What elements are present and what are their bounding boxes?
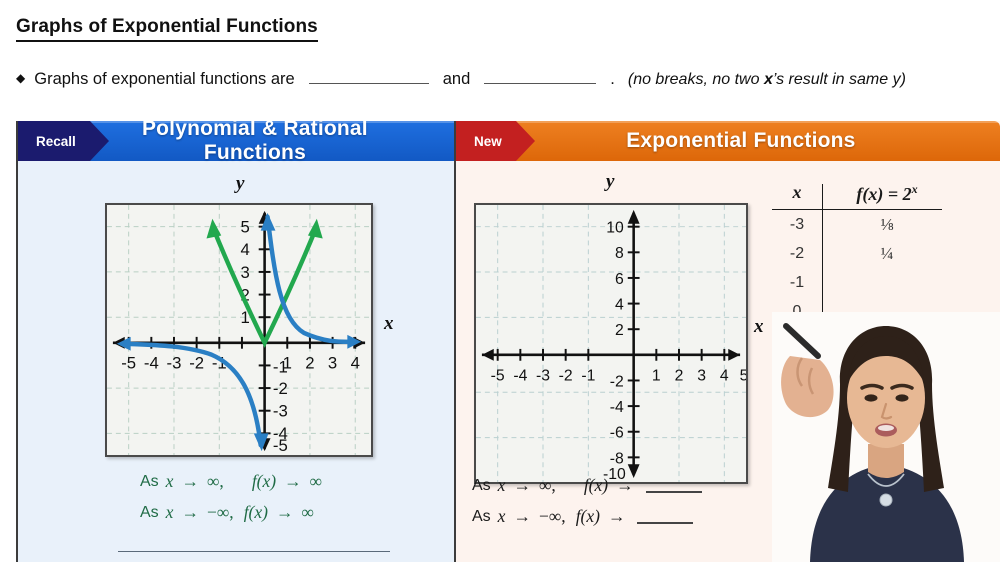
svg-text:3: 3 xyxy=(241,263,250,282)
limit-label: As xyxy=(140,473,159,491)
limit-arrow-icon: → xyxy=(181,502,199,523)
svg-text:-2: -2 xyxy=(610,373,624,390)
limit-arrow2-icon: → xyxy=(284,471,302,492)
svg-text:2: 2 xyxy=(615,322,624,339)
left-graph-svg: -5 -4 -3 -2 -1 1 2 3 4 5 4 3 2 xyxy=(107,205,371,455)
page-title: Graphs of Exponential Functions xyxy=(16,16,318,42)
table-cell-x: -3 xyxy=(772,216,822,234)
table-cell-x: -2 xyxy=(772,245,822,263)
limit-variable: x xyxy=(498,506,506,527)
right-graph-box: -5 -4 -3 -2 -1 1 2 3 4 5 10 8 6 4 2 -2 - xyxy=(474,203,748,484)
limit-function: f(x) xyxy=(576,506,600,527)
limit-arrow2-icon: → xyxy=(276,502,294,523)
svg-text:-6: -6 xyxy=(610,425,624,442)
limit-variable: x xyxy=(166,471,174,492)
limit-arrow-icon: → xyxy=(181,471,199,492)
svg-text:4: 4 xyxy=(720,367,729,384)
svg-text:1: 1 xyxy=(652,367,661,384)
svg-text:8: 8 xyxy=(615,245,624,262)
recall-divider xyxy=(118,551,390,552)
presenter-figure xyxy=(772,312,1000,562)
new-limit-row-1: As x → ∞, f(x) → xyxy=(472,475,702,496)
table-row: -1 xyxy=(772,268,942,297)
recall-panel: Recall Polynomial & Rational Functions y… xyxy=(16,121,456,562)
svg-text:4: 4 xyxy=(351,353,360,372)
left-grid xyxy=(107,205,371,455)
svg-text:10: 10 xyxy=(606,220,624,237)
svg-text:-1: -1 xyxy=(581,367,595,384)
limit-label: As xyxy=(472,477,491,495)
svg-text:6: 6 xyxy=(615,271,624,288)
blank-answer-1[interactable] xyxy=(309,71,429,84)
svg-text:-5: -5 xyxy=(273,436,288,455)
limit-label: As xyxy=(140,504,159,522)
limit-answer-blank-1[interactable] xyxy=(646,479,702,493)
svg-text:-3: -3 xyxy=(167,353,182,372)
limit-label: As xyxy=(472,508,491,526)
right-graph-svg: -5 -4 -3 -2 -1 1 2 3 4 5 10 8 6 4 2 -2 - xyxy=(476,205,746,482)
svg-text:-4: -4 xyxy=(610,399,624,416)
svg-text:-2: -2 xyxy=(273,379,288,398)
bullet-text-before: Graphs of exponential functions are xyxy=(34,70,295,89)
table-header-fx-exponent: x xyxy=(912,182,918,196)
presenter-neck xyxy=(868,444,904,478)
limit-variable: x xyxy=(498,475,506,496)
left-graph-box: -5 -4 -3 -2 -1 1 2 3 4 5 4 3 2 xyxy=(105,203,373,457)
svg-text:4: 4 xyxy=(241,240,250,259)
right-graph-x-label: x xyxy=(754,316,764,338)
limit-target: ∞, xyxy=(539,475,556,496)
right-graph-y-label: y xyxy=(606,171,614,193)
table-header-fx-text: f(x) = 2 xyxy=(856,184,911,204)
limit-result: ∞ xyxy=(301,502,313,523)
svg-text:4: 4 xyxy=(615,296,624,313)
blank-answer-2[interactable] xyxy=(484,71,596,84)
svg-text:3: 3 xyxy=(328,353,337,372)
polynomial-rational-graph: y x xyxy=(18,121,456,481)
svg-text:-2: -2 xyxy=(559,367,573,384)
svg-text:-8: -8 xyxy=(610,450,624,467)
table-row: -3⅛ xyxy=(772,210,942,239)
table-cell-x: -1 xyxy=(772,274,822,292)
limit-answer-blank-2[interactable] xyxy=(637,510,693,524)
recall-tag: Recall xyxy=(18,121,90,161)
svg-text:-3: -3 xyxy=(273,402,288,421)
limit-function: f(x) xyxy=(584,475,608,496)
limit-target: ∞, xyxy=(207,471,224,492)
presenter-video-overlay xyxy=(772,312,1000,562)
svg-text:5: 5 xyxy=(241,218,250,237)
new-tag: New xyxy=(456,121,516,161)
diamond-bullet-icon: ◆ xyxy=(16,71,25,85)
limit-arrow2-icon: → xyxy=(608,506,626,527)
new-limits: As x → ∞, f(x) → As x → −∞, f(x) → xyxy=(472,475,702,537)
svg-text:2: 2 xyxy=(305,353,314,372)
svg-text:5: 5 xyxy=(740,367,746,384)
table-header-row: x f(x) = 2x xyxy=(772,182,942,205)
bullet-conjunction: and xyxy=(443,70,471,89)
svg-text:-5: -5 xyxy=(491,367,505,384)
recall-limit-row-2: As x → −∞, f(x) → ∞ xyxy=(140,502,322,523)
left-tick-labels: -5 -4 -3 -2 -1 1 2 3 4 5 4 3 2 xyxy=(121,218,360,455)
table-cell-fx[interactable]: ¼ xyxy=(822,244,942,264)
limit-arrow2-icon: → xyxy=(616,475,634,496)
limit-result: ∞ xyxy=(310,471,322,492)
bullet-period: . xyxy=(610,70,615,89)
svg-text:-4: -4 xyxy=(513,367,527,384)
svg-text:-4: -4 xyxy=(144,353,159,372)
note-variable: x xyxy=(764,71,773,88)
svg-text:-2: -2 xyxy=(189,353,204,372)
slide-page: Graphs of Exponential Functions ◆ Graphs… xyxy=(0,0,1000,562)
new-limit-row-2: As x → −∞, f(x) → xyxy=(472,506,702,527)
limit-arrow-icon: → xyxy=(513,475,531,496)
svg-text:2: 2 xyxy=(675,367,684,384)
limit-arrow-icon: → xyxy=(513,506,531,527)
table-cell-fx[interactable]: ⅛ xyxy=(822,215,942,235)
left-graph-x-label: x xyxy=(384,313,394,335)
recall-limits: As x → ∞, f(x) → ∞ As x → −∞, f(x) → ∞ xyxy=(140,471,322,533)
limit-target: −∞, xyxy=(207,502,234,523)
limit-function: f(x) xyxy=(252,471,276,492)
limit-target: −∞, xyxy=(539,506,566,527)
bullet-statement: ◆ Graphs of exponential functions are an… xyxy=(16,70,990,89)
limit-function: f(x) xyxy=(244,502,268,523)
svg-text:-3: -3 xyxy=(536,367,550,384)
right-tick-labels: -5 -4 -3 -2 -1 1 2 3 4 5 10 8 6 4 2 -2 - xyxy=(491,220,746,482)
note-after: ’s result in same y) xyxy=(773,71,906,88)
svg-text:-5: -5 xyxy=(121,353,136,372)
note-before: (no breaks, no two xyxy=(628,71,764,88)
svg-text:3: 3 xyxy=(697,367,706,384)
left-axes xyxy=(113,213,365,449)
svg-text:-1: -1 xyxy=(273,357,288,376)
table-row: -2¼ xyxy=(772,239,942,268)
exponential-graph: y x xyxy=(466,121,766,501)
table-header-fx: f(x) = 2x xyxy=(822,182,942,205)
limit-variable: x xyxy=(166,502,174,523)
table-header-x: x xyxy=(772,182,822,205)
bullet-note: (no breaks, no two x’s result in same y) xyxy=(628,71,906,89)
left-graph-y-label: y xyxy=(236,173,244,195)
recall-limit-row-1: As x → ∞, f(x) → ∞ xyxy=(140,471,322,492)
